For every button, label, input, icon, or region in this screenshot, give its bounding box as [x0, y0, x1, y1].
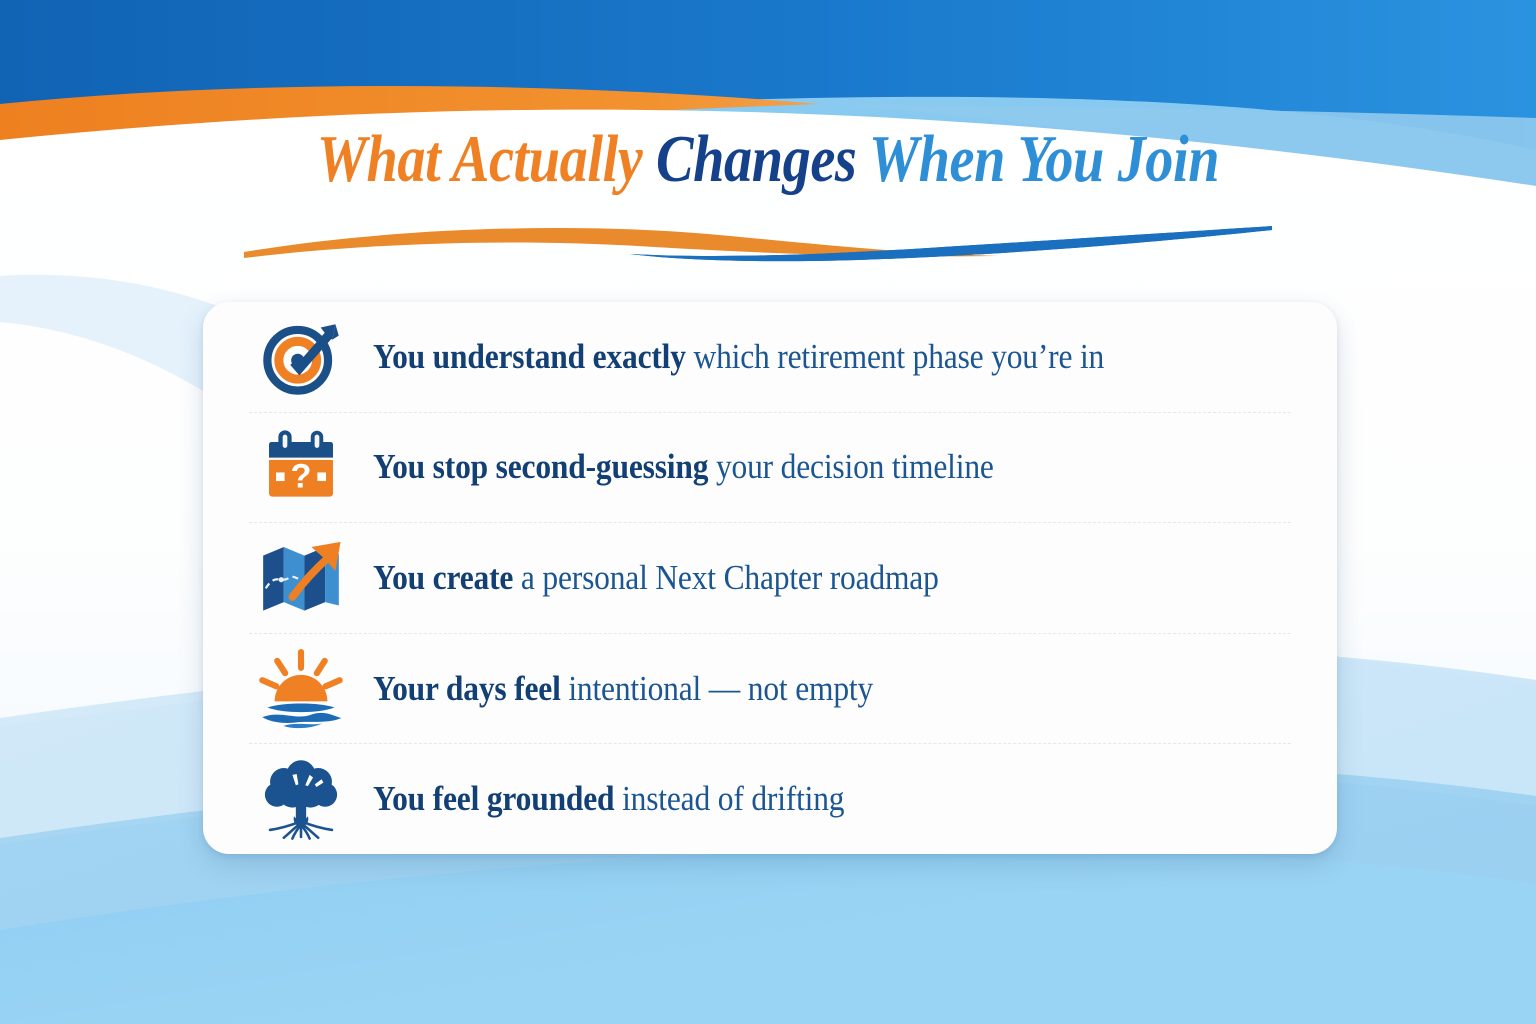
list-item-strong: You feel grounded — [373, 779, 614, 818]
list-item-light: which retirement phase you’re in — [686, 337, 1104, 376]
title-underline-swoosh — [238, 212, 1278, 266]
list-item-strong: You create — [373, 558, 513, 597]
list-item-light: your decision timeline — [708, 447, 993, 486]
list-item-light: a personal Next Chapter roadmap — [513, 558, 938, 597]
target-bullseye-icon — [255, 311, 347, 403]
list-item-light: intentional — not empty — [561, 669, 873, 708]
list-item-light: instead of drifting — [614, 779, 844, 818]
title-segment-orange: What Actually — [317, 122, 656, 196]
list-item-text: You understand exactly which retirement … — [373, 337, 1104, 377]
title-segment-navy: Changes — [656, 122, 869, 196]
list-item-text: Your days feel intentional — not empty — [373, 669, 873, 709]
title-segment-blue: When You Join — [869, 122, 1219, 196]
sunrise-water-icon — [255, 643, 347, 735]
poster-canvas: What Actually Changes When You Join — [0, 0, 1536, 1024]
list-item[interactable]: Your days feel intentional — not empty — [249, 634, 1291, 745]
page-title: What Actually Changes When You Join — [0, 124, 1536, 195]
list-item[interactable]: You feel grounded instead of drifting — [249, 744, 1291, 854]
list-item-text: You feel grounded instead of drifting — [373, 779, 844, 819]
list-item-text: You create a personal Next Chapter roadm… — [373, 558, 939, 598]
list-item-strong: You understand exactly — [373, 337, 686, 376]
list-item-strong: Your days feel — [373, 669, 561, 708]
list-item[interactable]: You create a personal Next Chapter roadm… — [249, 523, 1291, 634]
list-item[interactable]: ? You stop second-guessing your decision… — [249, 413, 1291, 524]
map-arrow-icon — [255, 532, 347, 624]
benefits-card: You understand exactly which retirement … — [203, 302, 1337, 854]
list-item-text: You stop second-guessing your decision t… — [373, 447, 994, 487]
calendar-question-icon: ? — [255, 421, 347, 513]
list-item-strong: You stop second-guessing — [373, 447, 708, 486]
list-item[interactable]: You understand exactly which retirement … — [249, 302, 1291, 413]
tree-roots-icon — [255, 753, 347, 845]
svg-text:?: ? — [291, 458, 312, 496]
benefits-list: You understand exactly which retirement … — [249, 302, 1291, 854]
